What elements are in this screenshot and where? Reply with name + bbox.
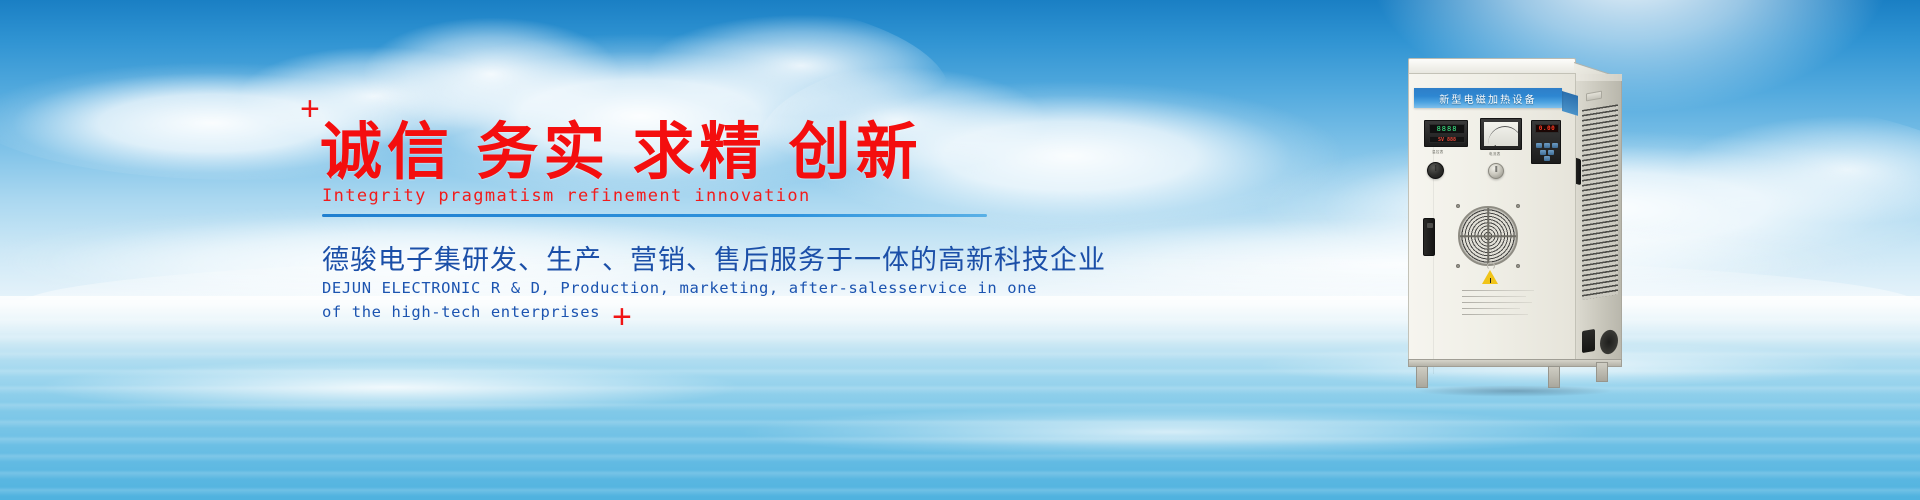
- fan-screw: [1456, 264, 1460, 268]
- warning-hook: [1487, 262, 1495, 270]
- divider-line: [322, 214, 987, 217]
- digital-display-secondary: SV 888: [1429, 136, 1465, 143]
- controller-caption: 温控表: [1432, 150, 1444, 155]
- selector-knob-dark: [1427, 162, 1444, 179]
- machine-label-text: 新型电磁加热设备: [1439, 91, 1537, 106]
- machine-top-cap: [1408, 58, 1576, 74]
- spec-line: [1462, 308, 1520, 309]
- subtitle-english-line-1: DEJUN ELECTRONIC R & D, Production, mark…: [322, 279, 1037, 297]
- led-readout-value: 0.00: [1539, 125, 1555, 132]
- headline-english: Integrity pragmatism refinement innovati…: [322, 186, 811, 206]
- keypad-button: [1544, 143, 1550, 148]
- fan-grille-icon: [1458, 206, 1518, 266]
- ammeter-scale-arc: [1488, 126, 1518, 144]
- machine-brand-label: 新型电磁加热设备: [1414, 88, 1562, 108]
- machine-side-louvers: [1582, 104, 1618, 300]
- digital-display-value: 8888: [1437, 125, 1458, 133]
- water-foam: [620, 392, 1720, 472]
- digital-temperature-controller: 8888 SV 888: [1424, 120, 1468, 147]
- digital-display-subvalue: SV 888: [1438, 137, 1456, 143]
- led-readout: 0.00: [1535, 124, 1559, 133]
- promotional-banner: + + 诚信 务实 求精 创新 Integrity pragmatism ref…: [0, 0, 1920, 500]
- adjustment-knob: [1488, 163, 1504, 179]
- warning-exclamation: [1490, 278, 1492, 283]
- machine-foot: [1548, 366, 1560, 388]
- keypad-button: [1544, 156, 1550, 161]
- ammeter-face: [1484, 122, 1518, 146]
- machine-front-vent-strip: [1423, 218, 1435, 256]
- subtitle-english-line-2: of the high-tech enterprises: [322, 300, 1037, 324]
- meter-caption: 电流表: [1489, 152, 1501, 157]
- machine-spec-lines: [1462, 290, 1540, 320]
- keypad-button: [1552, 143, 1558, 148]
- spec-line: [1462, 296, 1526, 297]
- spec-line: [1462, 302, 1532, 303]
- plus-mark-icon: +: [300, 92, 320, 126]
- subtitle-chinese: 德骏电子集研发、生产、营销、售后服务于一体的高新科技企业: [322, 238, 1106, 277]
- fan-screw: [1516, 264, 1520, 268]
- led-control-panel: 0.00: [1531, 120, 1561, 164]
- machine-side-vent: [1582, 329, 1595, 353]
- spec-line: [1462, 314, 1528, 315]
- subtitle-english: DEJUN ELECTRONIC R & D, Production, mark…: [322, 276, 1037, 324]
- keypad: [1536, 143, 1558, 161]
- analog-ammeter: [1480, 118, 1522, 150]
- keypad-button: [1536, 143, 1542, 148]
- fan-screw: [1456, 204, 1460, 208]
- product-image-heating-machine: 新型电磁加热设备 8888 SV 888 温控表 电流表 0.00: [1390, 58, 1630, 388]
- headline-chinese: 诚信 务实 求精 创新: [320, 118, 923, 187]
- machine-foot: [1416, 366, 1428, 388]
- machine-foot: [1596, 362, 1608, 382]
- spec-line: [1462, 290, 1534, 291]
- fan-screw: [1516, 204, 1520, 208]
- machine-base: [1408, 359, 1622, 367]
- keypad-button: [1540, 150, 1546, 155]
- keypad-button: [1548, 150, 1554, 155]
- digital-display-main: 8888: [1429, 124, 1465, 134]
